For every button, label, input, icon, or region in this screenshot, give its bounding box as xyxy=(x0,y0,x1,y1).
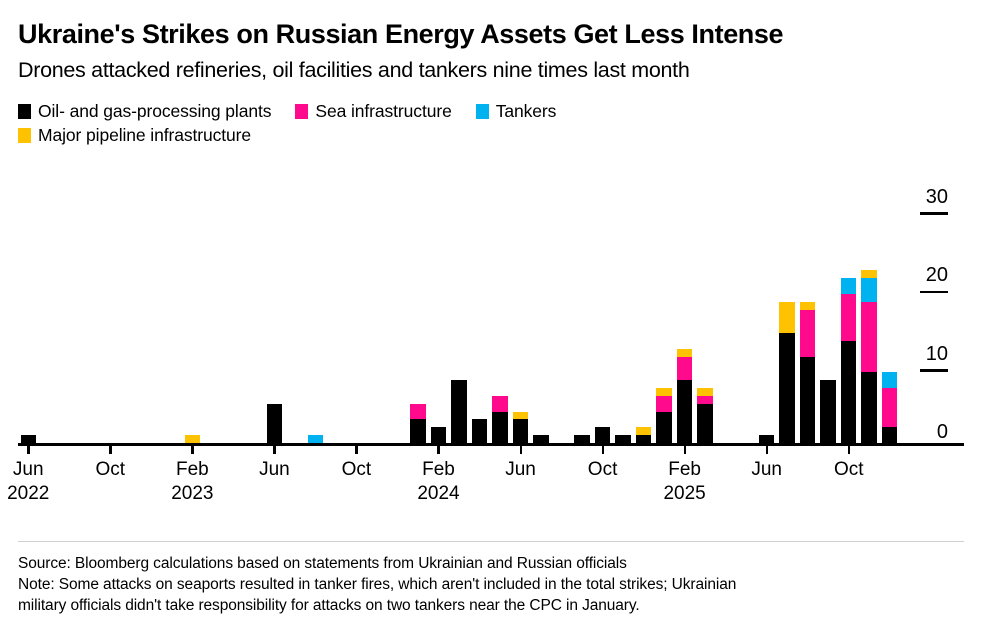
chart-bar xyxy=(308,435,324,443)
bar-segment-pipeline xyxy=(697,388,713,396)
bar-segment-oil xyxy=(820,380,836,443)
bar-segment-pipeline xyxy=(185,435,201,443)
chart-bar xyxy=(759,435,775,443)
y-axis-tick: 0 xyxy=(906,421,964,443)
bar-segment-oil xyxy=(759,435,775,443)
legend-item-tankers[interactable]: Tankers xyxy=(476,101,557,121)
chart-bar xyxy=(410,404,426,443)
y-axis-tick-label: 20 xyxy=(906,264,964,286)
legend-swatch-icon-sea xyxy=(295,104,308,119)
bar-segment-oil xyxy=(861,372,877,443)
x-axis-tick-mark xyxy=(355,445,358,454)
bar-segment-tankers xyxy=(861,278,877,302)
bar-segment-sea xyxy=(882,388,898,427)
bar-segment-oil xyxy=(800,357,816,443)
note-line-2: military officials didn't take responsib… xyxy=(18,595,964,616)
bar-segment-pipeline xyxy=(800,302,816,310)
bar-segment-pipeline xyxy=(677,349,693,357)
x-axis-tick-label: Oct xyxy=(834,458,864,481)
x-axis-tick-year: 2023 xyxy=(171,481,213,506)
legend-row-1: Oil- and gas-processing plants Sea infra… xyxy=(18,99,958,123)
bar-segment-sea xyxy=(492,396,508,412)
legend-label-pipeline: Major pipeline infrastructure xyxy=(38,125,251,145)
chart-bar xyxy=(492,396,508,443)
bar-segment-pipeline xyxy=(636,427,652,435)
y-axis-tick-rule xyxy=(920,369,948,372)
bar-segment-oil xyxy=(882,427,898,443)
x-axis-tick-mark xyxy=(191,445,194,454)
y-axis-tick: 10 xyxy=(906,343,964,365)
y-axis-tick: 20 xyxy=(906,264,964,286)
legend-label-tankers: Tankers xyxy=(496,101,557,121)
bar-segment-oil xyxy=(841,341,857,443)
x-axis-tick-mark xyxy=(520,445,523,454)
bar-segment-oil xyxy=(21,435,37,443)
x-axis-tick-label: Jun2022 xyxy=(7,458,49,506)
chart-bar xyxy=(800,302,816,443)
x-axis-tick-mark xyxy=(109,445,112,454)
bar-segment-oil xyxy=(410,419,426,443)
bar-segment-oil xyxy=(431,427,447,443)
bar-segment-sea xyxy=(656,396,672,412)
x-axis-tick-label: Jun xyxy=(751,458,782,481)
chart-bar xyxy=(595,427,611,443)
x-axis-tick-label: Oct xyxy=(96,458,126,481)
bars-layer xyxy=(18,160,900,443)
chart-bar xyxy=(779,302,795,443)
bar-segment-oil xyxy=(513,419,529,443)
y-axis-tick-label: 0 xyxy=(906,421,964,443)
source-line: Source: Bloomberg calculations based on … xyxy=(18,553,964,574)
x-axis-ticks: Jun2022OctFeb2023JunOctFeb2024JunOctFeb2… xyxy=(18,445,964,525)
bar-segment-tankers xyxy=(882,372,898,388)
chart-bar xyxy=(636,427,652,443)
x-axis-tick-year: 2022 xyxy=(7,481,49,506)
bar-segment-tankers xyxy=(308,435,324,443)
x-axis-tick-label: Oct xyxy=(342,458,372,481)
bar-segment-sea xyxy=(677,357,693,381)
bar-segment-pipeline xyxy=(861,270,877,278)
bar-segment-oil xyxy=(677,380,693,443)
legend-row-2: Major pipeline infrastructure xyxy=(18,123,958,147)
chart-bar xyxy=(513,412,529,443)
x-axis-tick-mark xyxy=(684,445,687,454)
footnotes: Source: Bloomberg calculations based on … xyxy=(18,553,964,616)
chart-legend: Oil- and gas-processing plants Sea infra… xyxy=(18,99,958,147)
bar-segment-oil xyxy=(595,427,611,443)
plot-area: 0102030 xyxy=(18,160,964,450)
x-axis-tick-mark xyxy=(273,445,276,454)
bar-segment-pipeline xyxy=(513,412,529,420)
chart-bar xyxy=(267,404,283,443)
bar-segment-sea xyxy=(410,404,426,420)
bar-segment-oil xyxy=(492,412,508,443)
y-axis-tick-label: 10 xyxy=(906,343,964,365)
bar-segment-sea xyxy=(697,396,713,404)
bar-segment-sea xyxy=(861,302,877,373)
bar-segment-oil xyxy=(472,419,488,443)
page-title: Ukraine's Strikes on Russian Energy Asse… xyxy=(18,18,958,50)
x-axis-tick-label: Jun xyxy=(505,458,536,481)
x-axis-tick-label: Jun xyxy=(259,458,290,481)
bar-segment-pipeline xyxy=(656,388,672,396)
chart-bar xyxy=(615,435,631,443)
legend-swatch-icon-tankers xyxy=(476,104,489,119)
bar-segment-oil xyxy=(779,333,795,443)
chart-subtitle: Drones attacked refineries, oil faciliti… xyxy=(18,57,968,83)
x-axis-tick-year: 2024 xyxy=(417,481,459,506)
legend-item-sea[interactable]: Sea infrastructure xyxy=(295,101,451,121)
x-axis-tick-label: Feb2023 xyxy=(171,458,213,506)
y-axis-tick: 30 xyxy=(906,186,964,208)
chart-bar xyxy=(882,372,898,443)
bar-segment-sea xyxy=(841,294,857,341)
chart-bar xyxy=(697,388,713,443)
legend-label-oil: Oil- and gas-processing plants xyxy=(38,101,271,121)
chart-bar xyxy=(472,419,488,443)
x-axis-tick-label: Oct xyxy=(588,458,618,481)
chart-bar xyxy=(533,435,549,443)
bar-segment-oil xyxy=(451,380,467,443)
legend-swatch-icon-pipeline xyxy=(18,128,31,143)
x-axis-tick-year: 2025 xyxy=(663,481,705,506)
chart-bar xyxy=(431,427,447,443)
footer-divider xyxy=(18,541,964,542)
bar-segment-tankers xyxy=(841,278,857,294)
x-axis-tick-mark xyxy=(766,445,769,454)
x-axis-tick-mark xyxy=(27,445,30,454)
x-axis-tick-mark xyxy=(848,445,851,454)
bar-segment-oil xyxy=(656,412,672,443)
note-line-1: Note: Some attacks on seaports resulted … xyxy=(18,574,964,595)
x-axis-tick-label: Feb2025 xyxy=(663,458,705,506)
chart-bar xyxy=(185,435,201,443)
bar-segment-oil xyxy=(636,435,652,443)
legend-item-oil[interactable]: Oil- and gas-processing plants xyxy=(18,101,271,121)
legend-swatch-icon-oil xyxy=(18,104,31,119)
x-axis-tick-label: Feb2024 xyxy=(417,458,459,506)
legend-item-pipeline[interactable]: Major pipeline infrastructure xyxy=(18,125,251,145)
chart-bar xyxy=(574,435,590,443)
bar-segment-oil xyxy=(267,404,283,443)
y-axis: 0102030 xyxy=(906,160,964,450)
y-axis-tick-rule xyxy=(920,212,948,215)
chart-bar xyxy=(861,270,877,443)
chart-bar xyxy=(656,388,672,443)
bar-segment-oil xyxy=(574,435,590,443)
bar-segment-oil xyxy=(615,435,631,443)
chart-bar xyxy=(677,349,693,443)
bar-segment-sea xyxy=(800,310,816,357)
chart-bar xyxy=(820,380,836,443)
y-axis-tick-label: 30 xyxy=(906,186,964,208)
bar-segment-pipeline xyxy=(779,302,795,333)
x-axis-tick-mark xyxy=(437,445,440,454)
bar-segment-oil xyxy=(533,435,549,443)
bar-segment-oil xyxy=(697,404,713,443)
chart-bar xyxy=(451,380,467,443)
bloomberg-chart-figure: Ukraine's Strikes on Russian Energy Asse… xyxy=(0,0,982,636)
chart-bar xyxy=(841,278,857,443)
chart-bar xyxy=(21,435,37,443)
legend-label-sea: Sea infrastructure xyxy=(315,101,451,121)
y-axis-tick-rule xyxy=(920,291,948,294)
x-axis-tick-mark xyxy=(602,445,605,454)
